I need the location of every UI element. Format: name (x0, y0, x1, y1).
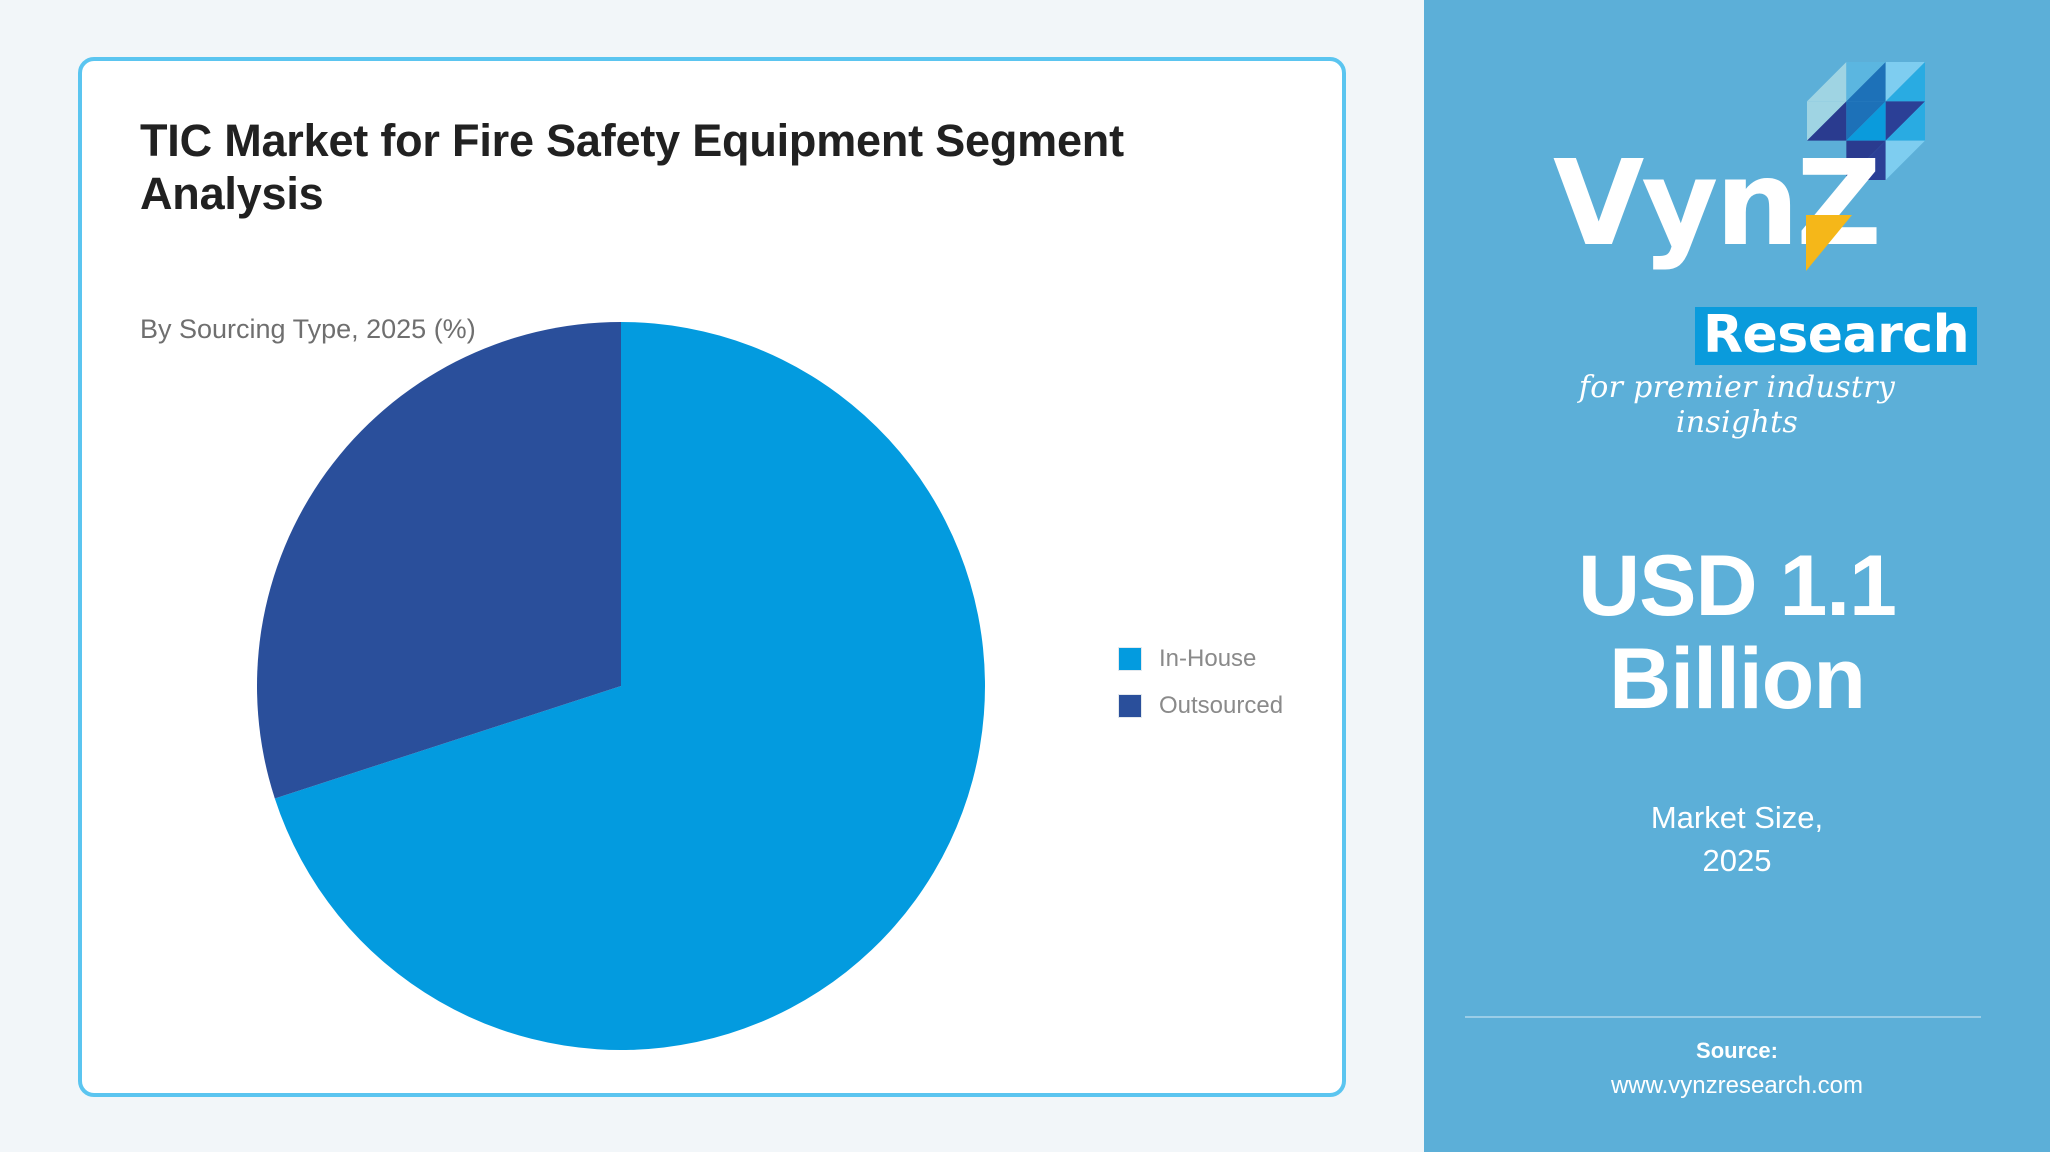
market-size-caption: Market Size, 2025 (1424, 797, 2050, 883)
legend-swatch-outsourced (1118, 694, 1142, 718)
pie-chart-svg (257, 322, 985, 1050)
infographic-root: TIC Market for Fire Safety Equipment Seg… (0, 0, 2050, 1152)
source-label: Source: (1424, 1038, 2050, 1064)
logo-tagline: for premier industry insights (1547, 370, 1927, 440)
headline-line-1: USD 1.1 (1424, 540, 2050, 633)
legend-item-outsourced[interactable]: Outsourced (1118, 694, 1283, 718)
divider (1465, 1016, 1981, 1018)
logo-accent-triangle-icon (1806, 215, 1852, 271)
source-url[interactable]: www.vynzresearch.com (1424, 1072, 2050, 1100)
legend-item-in-house[interactable]: In-House (1118, 647, 1283, 671)
logo-subword: Research (1695, 307, 1977, 365)
side-panel: VynZ Research for premier industry insig… (1424, 0, 2050, 1152)
page-title: TIC Market for Fire Safety Equipment Seg… (140, 115, 1200, 220)
pie-chart (257, 322, 985, 1050)
legend-label-in-house: In-House (1159, 647, 1256, 671)
brand-logo: VynZ Research for premier industry insig… (1424, 62, 2050, 357)
caption-line-2: 2025 (1424, 840, 2050, 883)
legend-swatch-in-house (1118, 647, 1142, 671)
headline-line-2: Billion (1424, 633, 2050, 726)
caption-line-1: Market Size, (1424, 797, 2050, 840)
legend-label-outsourced: Outsourced (1159, 694, 1283, 718)
logo-inner: VynZ Research for premier industry insig… (1547, 62, 1927, 357)
market-size-headline: USD 1.1 Billion (1424, 540, 2050, 726)
chart-card: TIC Market for Fire Safety Equipment Seg… (78, 57, 1346, 1097)
chart-legend: In-House Outsourced (1118, 647, 1283, 718)
